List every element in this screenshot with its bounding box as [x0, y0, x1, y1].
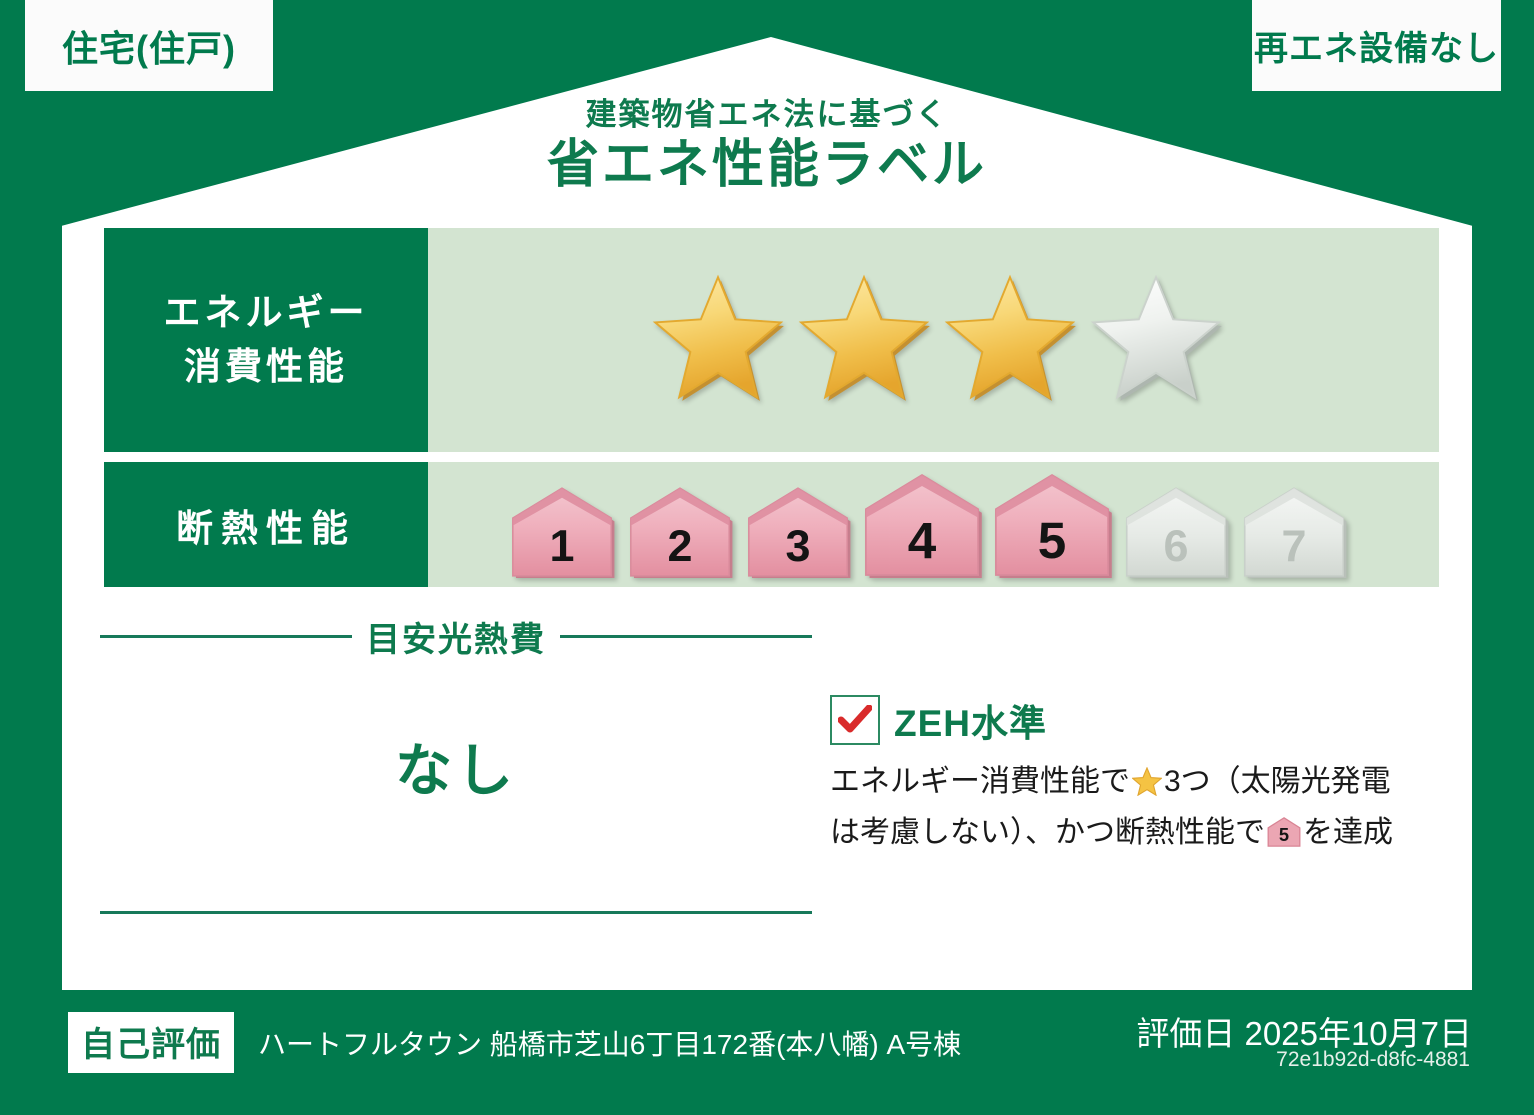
insulation-level-value: 5 — [1037, 511, 1066, 568]
zeh-checkbox — [830, 695, 880, 745]
zeh-desc-stars: 3つ（太陽光発電 — [1164, 765, 1391, 798]
insulation-house-icon-empty: 7 — [1239, 486, 1349, 578]
insulation-house-icon-filled: 3 — [743, 486, 853, 578]
insulation-level-value: 6 — [1163, 519, 1188, 570]
zeh-title-label: ZEH水準 — [894, 693, 1047, 747]
star-rating — [648, 273, 1226, 407]
energy-cost-heading-label: 目安光熱費 — [366, 612, 546, 661]
building-type-tab-label: 住宅(住戸) — [62, 20, 236, 72]
insulation-house-icon-filled: 2 — [625, 486, 735, 578]
self-evaluation-badge: 自己評価 — [68, 1012, 234, 1073]
insulation-level-icon: 5 — [1267, 815, 1301, 861]
insulation-house-icon-empty: 6 — [1121, 486, 1231, 578]
energy-performance-key-line2: 消費性能 — [184, 340, 348, 394]
renewable-energy-tab: 再エネ設備なし — [1252, 0, 1501, 91]
energy-cost-bottom-divider — [100, 911, 812, 914]
star-icon-filled — [648, 273, 788, 407]
energy-performance-row: エネルギー 消費性能 — [104, 228, 1439, 452]
insulation-level-value: 7 — [1281, 519, 1306, 570]
energy-performance-value — [428, 228, 1439, 452]
insulation-level-icon-value: 5 — [1279, 824, 1289, 845]
insulation-house-icon-filled: 1 — [507, 486, 617, 578]
insulation-house-icon-filled: 5 — [991, 472, 1113, 578]
energy-cost-heading: 目安光熱費 — [100, 612, 812, 661]
zeh-title-row: ZEH水準 — [830, 693, 1450, 747]
insulation-level-scale: 1234567 — [507, 472, 1349, 578]
star-icon-empty — [1086, 273, 1226, 407]
insulation-level-value: 3 — [785, 519, 810, 570]
divider-right — [560, 635, 812, 638]
insulation-level-value: 4 — [907, 511, 936, 568]
building-type-tab: 住宅(住戸) — [25, 0, 273, 91]
divider-left — [100, 635, 352, 638]
insulation-performance-key-label: 断熱性能 — [176, 498, 356, 552]
star-icon-filled — [940, 273, 1080, 407]
energy-cost-value: なし — [100, 725, 812, 807]
insulation-level-value: 1 — [549, 519, 574, 570]
star-icon-filled — [794, 273, 934, 407]
insulation-house-icon-filled: 4 — [861, 472, 983, 578]
zeh-standard-block: ZEH水準 エネルギー消費性能で 3つ（太陽光発電 は考慮しない）、かつ断熱性能… — [830, 693, 1450, 860]
zeh-desc-part2: は考慮しない）、かつ断熱性能で — [830, 816, 1265, 849]
insulation-performance-row: 断熱性能 1234567 — [104, 462, 1439, 587]
energy-performance-label: 住宅(住戸) 再エネ設備なし 建築物省エネ法に基づく 省エネ性能ラベル エネルギ… — [0, 0, 1534, 1115]
building-name: ハートフルタウン 船橋市芝山6丁目172番(本八幡) A号棟 — [258, 1023, 961, 1063]
zeh-desc-part1: エネルギー消費性能で — [830, 765, 1130, 798]
insulation-performance-key: 断熱性能 — [104, 462, 428, 587]
insulation-performance-value: 1234567 — [428, 462, 1439, 587]
footer: 自己評価 ハートフルタウン 船橋市芝山6丁目172番(本八幡) A号棟 評価日 … — [0, 990, 1534, 1115]
energy-performance-key-line1: エネルギー — [164, 286, 369, 340]
star-icon — [1132, 764, 1162, 810]
zeh-desc-part3: を達成 — [1303, 816, 1393, 849]
zeh-description: エネルギー消費性能で 3つ（太陽光発電 は考慮しない）、かつ断熱性能で 5 を達… — [830, 759, 1450, 860]
energy-performance-key: エネルギー 消費性能 — [104, 228, 428, 452]
renewable-energy-tab-label: 再エネ設備なし — [1254, 21, 1499, 70]
evaluation-id: 72e1b92d-d8fc-4881 — [1276, 1048, 1470, 1072]
insulation-level-value: 2 — [667, 519, 692, 570]
